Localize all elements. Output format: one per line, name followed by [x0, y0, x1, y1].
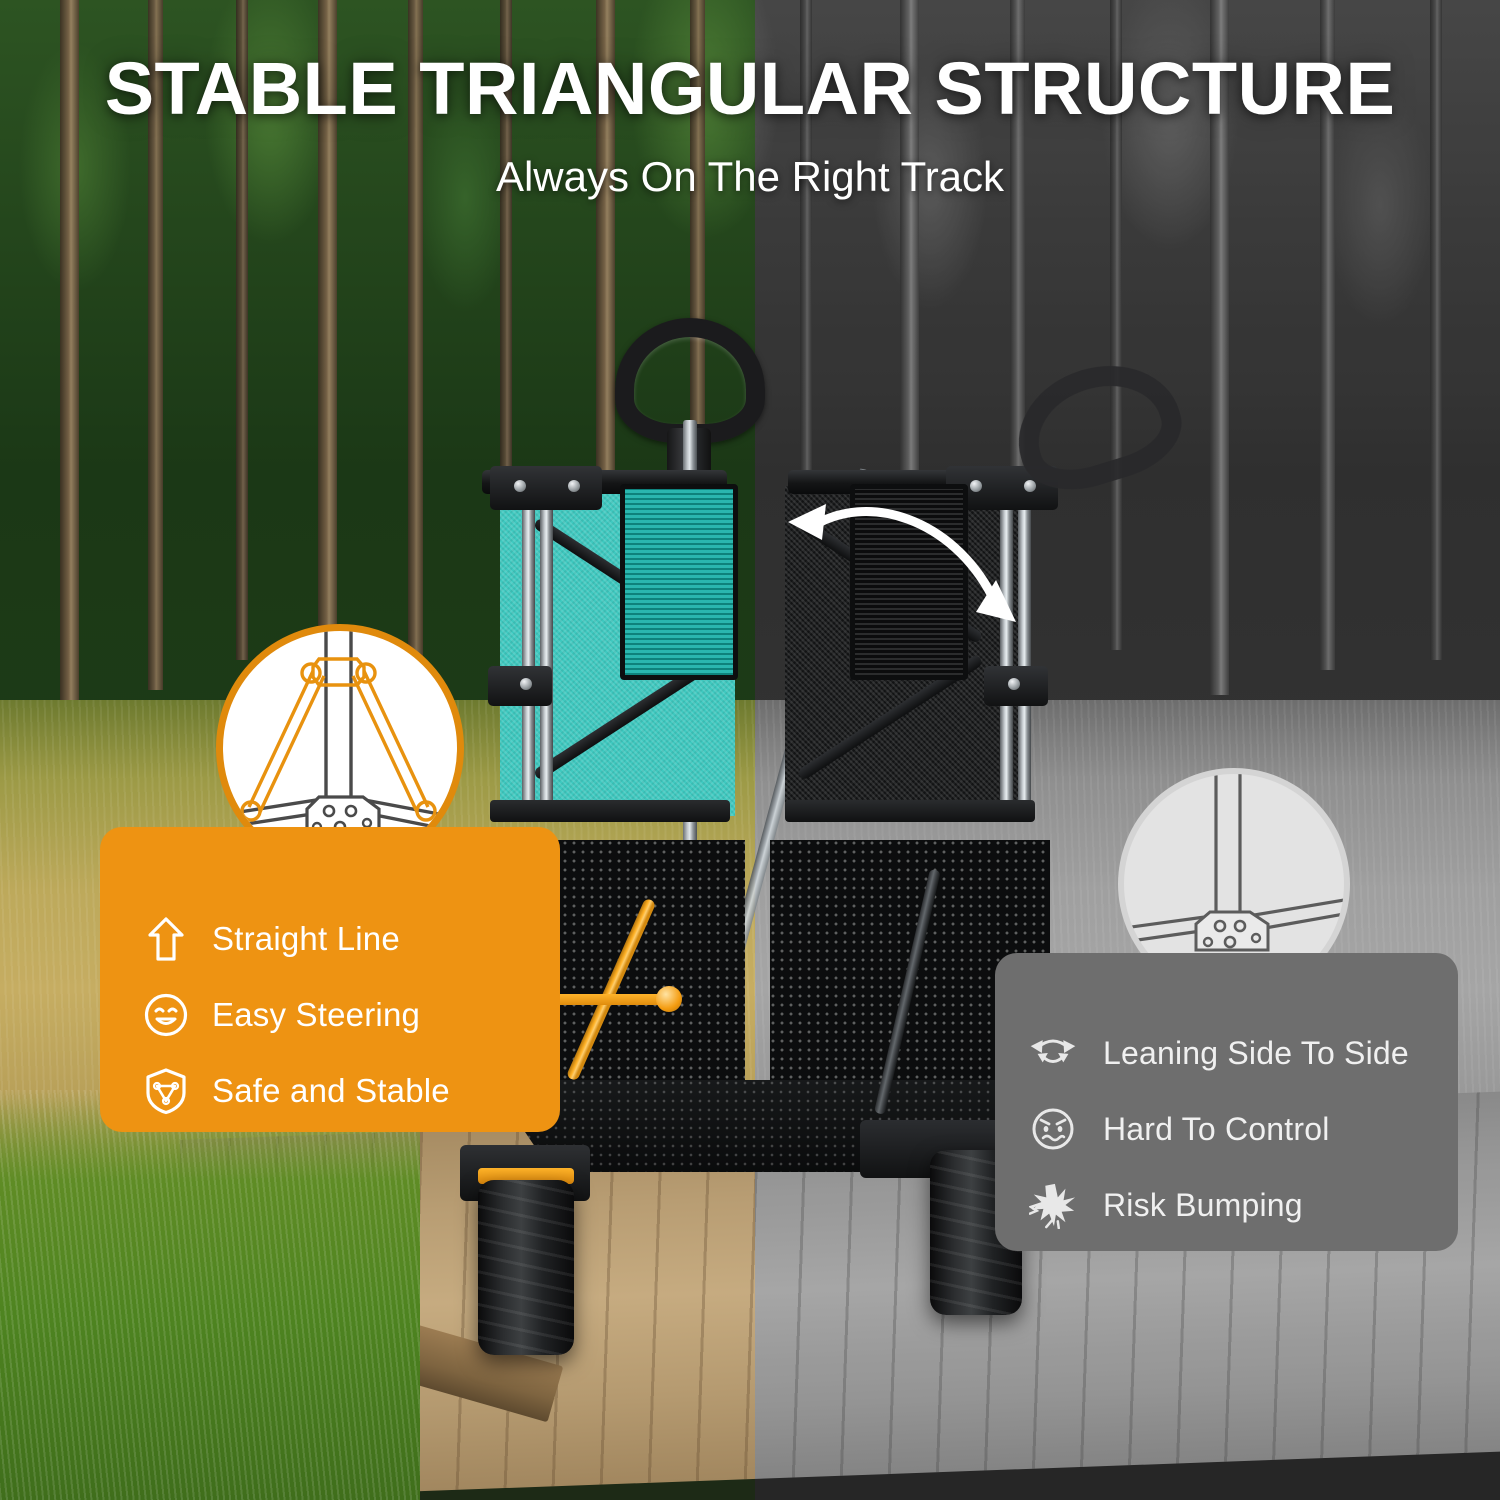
explosion-burst-icon — [1029, 1181, 1077, 1229]
teal-pocket-strap — [620, 484, 738, 680]
smiley-face-icon — [142, 991, 190, 1039]
title-block: STABLE TRIANGULAR STRUCTURE Always On Th… — [0, 46, 1500, 201]
drawbacks-list: Leaning Side To Side Hard To Control — [1029, 1015, 1409, 1243]
wobble-arrow-annotation — [778, 492, 1028, 642]
product-marketing-image: STABLE TRIANGULAR STRUCTURE Always On Th… — [0, 0, 1500, 1500]
worried-face-icon — [1029, 1105, 1077, 1153]
shield-triangle-icon — [142, 1067, 190, 1115]
orange-support-arm — [548, 994, 666, 1005]
bottom-rail-right — [785, 800, 1035, 822]
list-item-label: Safe and Stable — [212, 1072, 450, 1110]
list-item: Easy Steering — [142, 977, 450, 1053]
list-item-label: Risk Bumping — [1103, 1187, 1303, 1224]
benefits-list: Straight Line Easy Steering — [142, 901, 450, 1129]
drawbacks-panel: Leaning Side To Side Hard To Control — [995, 953, 1458, 1251]
benefits-panel: Straight Line Easy Steering — [100, 827, 560, 1132]
list-item-label: Straight Line — [212, 920, 400, 958]
wagon-wheel-front — [478, 1180, 574, 1355]
list-item-label: Hard To Control — [1103, 1111, 1330, 1148]
list-item-label: Leaning Side To Side — [1103, 1035, 1409, 1072]
list-item: Risk Bumping — [1029, 1167, 1409, 1243]
page-title: STABLE TRIANGULAR STRUCTURE — [0, 46, 1500, 131]
list-item: Straight Line — [142, 901, 450, 977]
double-curved-arrow-icon — [1029, 1029, 1077, 1077]
orange-pivot-node — [656, 986, 682, 1012]
list-item: Hard To Control — [1029, 1091, 1409, 1167]
bottom-rail-left — [490, 800, 730, 822]
list-item: Leaning Side To Side — [1029, 1015, 1409, 1091]
list-item-label: Easy Steering — [212, 996, 420, 1034]
up-arrow-icon — [142, 915, 190, 963]
page-subtitle: Always On The Right Track — [0, 153, 1500, 201]
list-item: Safe and Stable — [142, 1053, 450, 1129]
foreground-green-grass — [0, 1090, 420, 1500]
